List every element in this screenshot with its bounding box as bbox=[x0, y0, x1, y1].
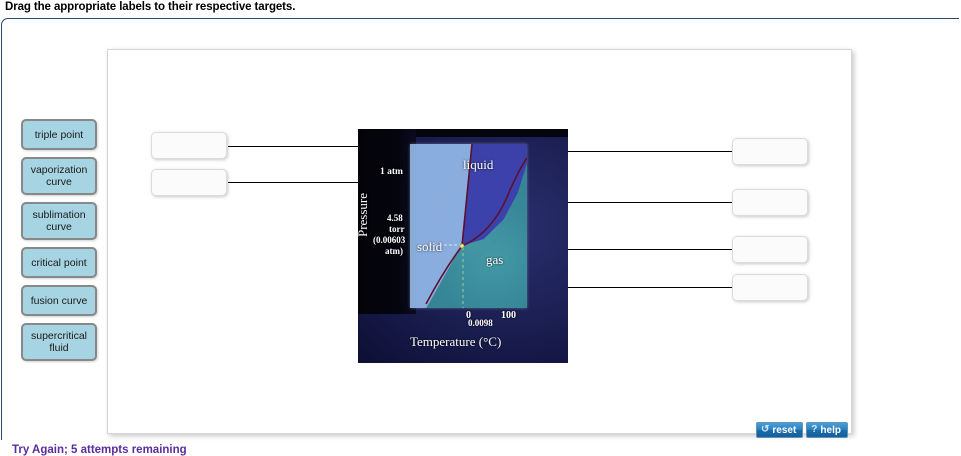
drag-label-text: vaporization curve bbox=[26, 164, 92, 188]
phase-diagram-image: Pressure 1 atm 4.58 torr (0.00603 atm) s… bbox=[358, 129, 568, 363]
drag-label-critical-point[interactable]: critical point bbox=[21, 247, 97, 278]
drag-label-text: fusion curve bbox=[31, 295, 88, 307]
diagram-ytick-458: 4.58 bbox=[387, 213, 403, 223]
label-bank: triple point vaporization curve sublimat… bbox=[21, 119, 99, 368]
drop-target-right-2[interactable] bbox=[732, 189, 808, 216]
work-panel: Pressure 1 atm 4.58 torr (0.00603 atm) s… bbox=[107, 49, 852, 434]
panel-button-group: ↺ reset ? help bbox=[756, 422, 848, 438]
drag-label-text: supercritical fluid bbox=[26, 330, 92, 354]
diagram-y-axis-title: Pressure bbox=[358, 193, 371, 237]
instruction-text: Drag the appropriate labels to their res… bbox=[5, 1, 295, 13]
drop-target-left-1[interactable] bbox=[151, 132, 227, 159]
drag-label-text: critical point bbox=[31, 257, 86, 269]
diagram-ytick-1atm: 1 atm bbox=[380, 167, 403, 177]
help-button[interactable]: ? help bbox=[806, 422, 848, 438]
question-mark-icon: ? bbox=[811, 425, 817, 435]
diagram-ytick-atm-close: atm) bbox=[385, 246, 403, 256]
diagram-region-label-liquid: liquid bbox=[463, 157, 493, 173]
reset-icon: ↺ bbox=[761, 425, 769, 435]
feedback-message: Try Again; 5 attempts remaining bbox=[12, 444, 187, 456]
help-button-label: help bbox=[820, 425, 841, 436]
drag-label-text: triple point bbox=[35, 129, 83, 141]
diagram-region-label-gas: gas bbox=[486, 252, 503, 268]
drag-label-text: sublimation curve bbox=[26, 209, 92, 233]
drag-label-vaporization-curve[interactable]: vaporization curve bbox=[21, 157, 97, 195]
leader-line-right-1 bbox=[563, 151, 733, 152]
drag-label-triple-point[interactable]: triple point bbox=[21, 119, 97, 150]
drag-label-fusion-curve[interactable]: fusion curve bbox=[21, 285, 97, 316]
reset-button-label: reset bbox=[772, 425, 796, 436]
diagram-xtick-triple-temp: 0.0098 bbox=[468, 318, 493, 328]
diagram-region-label-solid: solid bbox=[417, 239, 442, 255]
drop-target-right-1[interactable] bbox=[732, 138, 808, 165]
diagram-ytick-torr-unit: torr bbox=[389, 224, 405, 234]
drop-target-right-3[interactable] bbox=[732, 236, 808, 263]
drop-target-right-4[interactable] bbox=[732, 274, 808, 301]
drag-label-sublimation-curve[interactable]: sublimation curve bbox=[21, 202, 97, 240]
diagram-ytick-atm-open: (0.00603 bbox=[373, 235, 405, 245]
drop-target-left-2[interactable] bbox=[151, 169, 227, 196]
reset-button[interactable]: ↺ reset bbox=[756, 422, 803, 438]
diagram-xtick-hundred: 100 bbox=[501, 310, 516, 321]
diagram-x-axis-title: Temperature (°C) bbox=[410, 334, 501, 350]
drag-label-supercritical-fluid[interactable]: supercritical fluid bbox=[21, 323, 97, 361]
question-frame: triple point vaporization curve sublimat… bbox=[1, 18, 959, 440]
